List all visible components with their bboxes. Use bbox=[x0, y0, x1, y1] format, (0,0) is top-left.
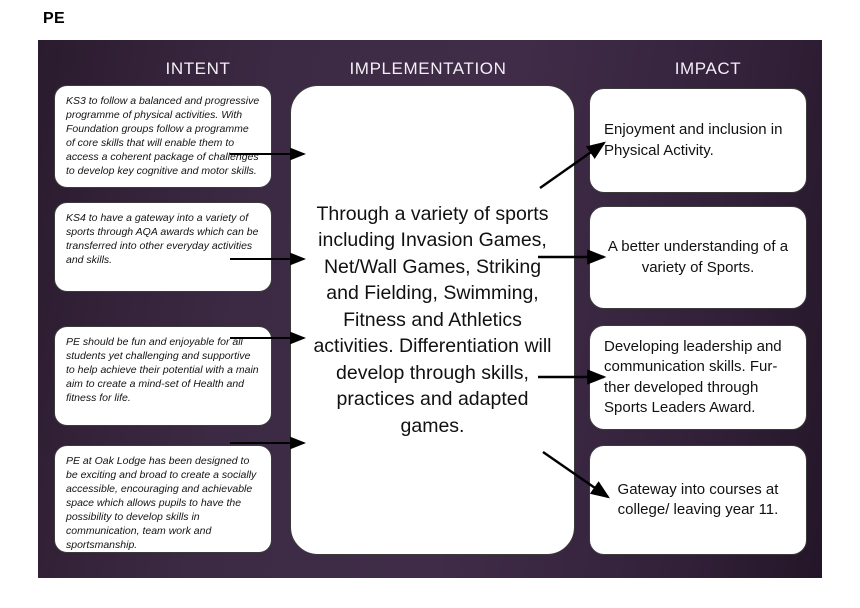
impact-text: Enjoyment and inclusion in Physical Acti… bbox=[604, 120, 792, 161]
column-header-implementation: IMPLEMENTATION bbox=[268, 59, 588, 79]
intent-card: PE at Oak Lodge has been designed to be … bbox=[54, 445, 272, 553]
column-header-impact: IMPACT bbox=[598, 59, 818, 79]
implementation-card: Through a variety of sports including In… bbox=[290, 85, 575, 555]
impact-card: Enjoyment and inclusion in Physical Acti… bbox=[589, 88, 807, 193]
page-title: PE bbox=[43, 10, 65, 28]
impact-card: A better understanding of a variety of S… bbox=[589, 206, 807, 309]
impact-card: Gateway into courses at college/ leaving… bbox=[589, 445, 807, 555]
impact-text: Gateway into courses at college/ leaving… bbox=[604, 480, 792, 521]
intent-card: KS4 to have a gateway into a variety of … bbox=[54, 202, 272, 292]
impact-text: A better understanding of a variety of S… bbox=[604, 237, 792, 278]
implementation-text: Through a variety of sports including In… bbox=[305, 201, 560, 440]
intent-card: KS3 to follow a balanced and progressive… bbox=[54, 85, 272, 188]
impact-text: Developing leadership and communication … bbox=[604, 337, 792, 419]
intent-card: PE should be fun and enjoyable for all s… bbox=[54, 326, 272, 426]
impact-card: Developing leadership and communication … bbox=[589, 325, 807, 430]
curriculum-board: INTENT IMPLEMENTATION IMPACT KS3 to foll… bbox=[38, 40, 822, 578]
